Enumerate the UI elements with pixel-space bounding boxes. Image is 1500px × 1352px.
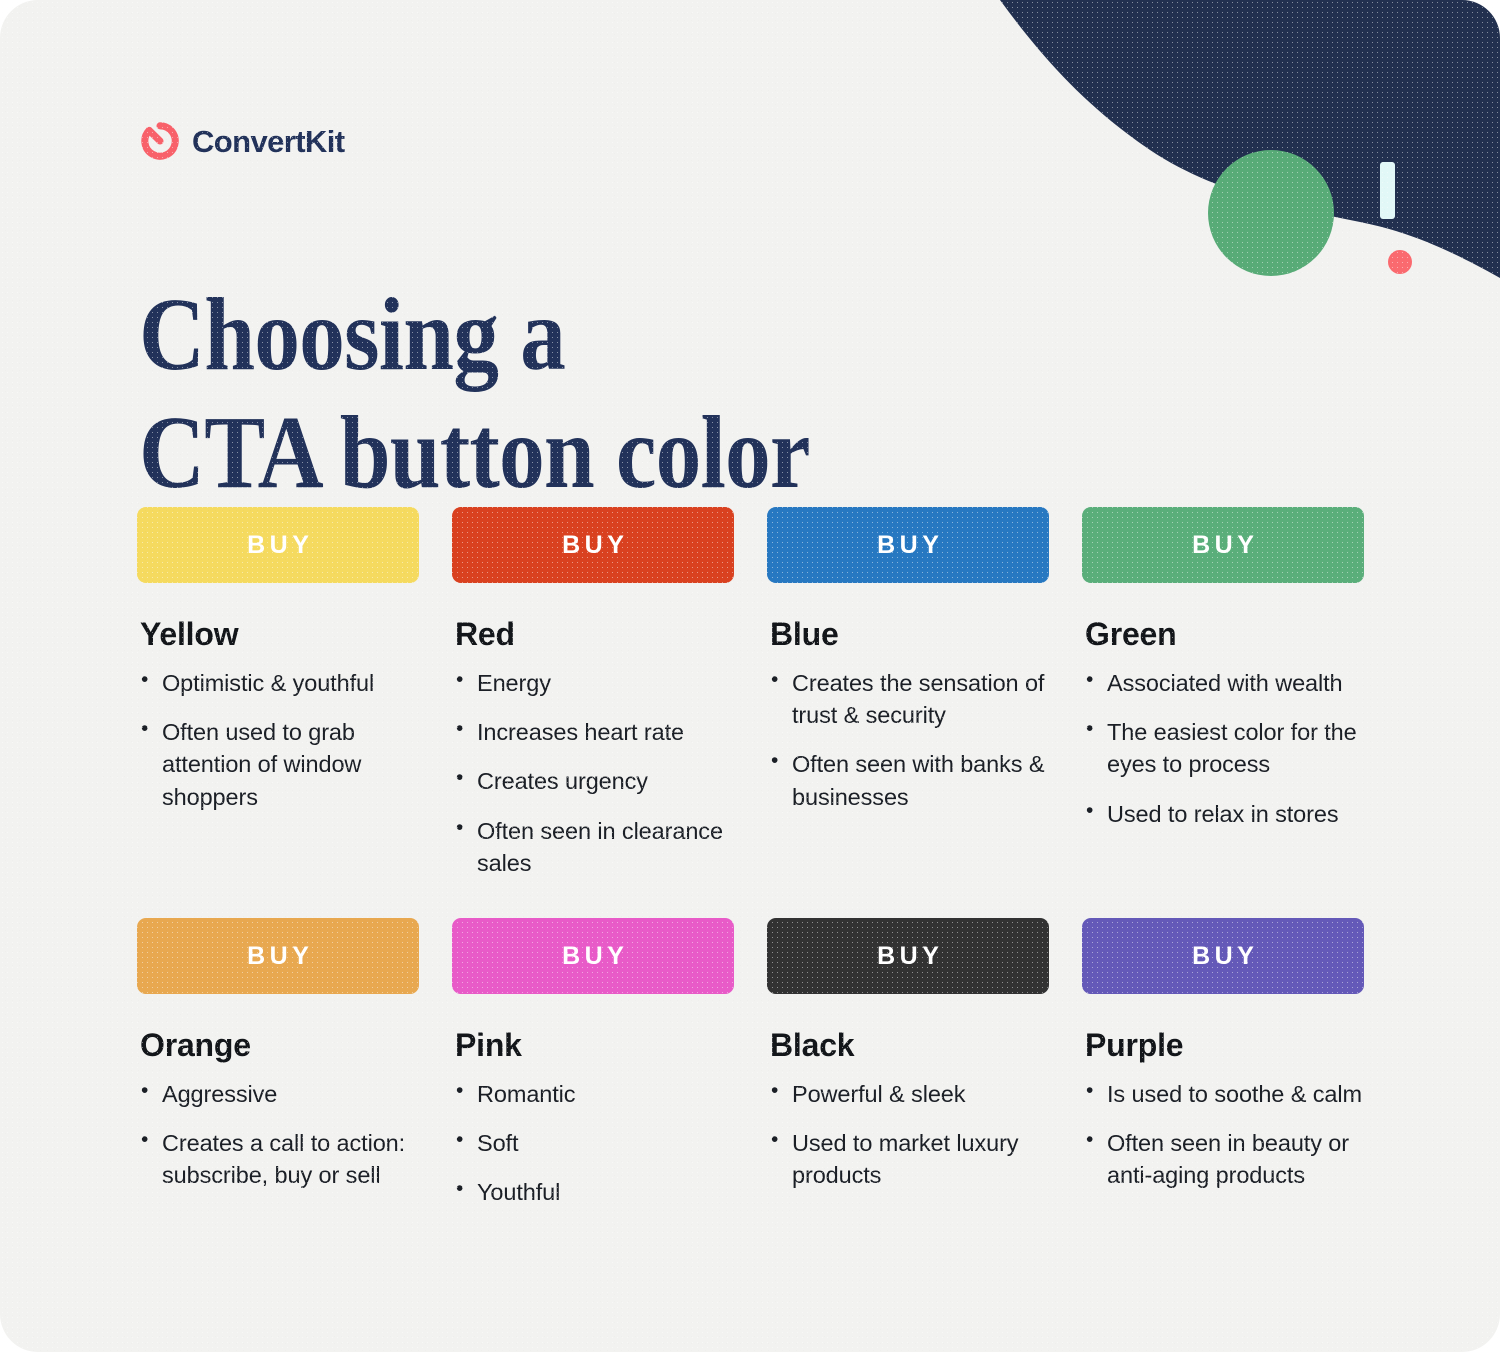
color-card-pink: BUY Pink Romantic Soft Youthful bbox=[452, 918, 734, 1226]
list-item: Soft bbox=[452, 1127, 734, 1159]
buy-button-pink[interactable]: BUY bbox=[452, 918, 734, 994]
green-circle-decoration bbox=[1208, 150, 1334, 276]
bullet-list-pink: Romantic Soft Youthful bbox=[452, 1078, 734, 1209]
bullet-list-blue: Creates the sensation of trust & securit… bbox=[767, 667, 1049, 813]
color-name-orange: Orange bbox=[140, 1027, 419, 1064]
bullet-list-orange: Aggressive Creates a call to action: sub… bbox=[137, 1078, 419, 1192]
list-item: Increases heart rate bbox=[452, 716, 734, 748]
color-cards-grid-row-1: BUY Yellow Optimistic & youthful Often u… bbox=[137, 507, 1365, 896]
buy-button-yellow[interactable]: BUY bbox=[137, 507, 419, 583]
buy-button-black[interactable]: BUY bbox=[767, 918, 1049, 994]
list-item: Romantic bbox=[452, 1078, 734, 1110]
color-card-orange: BUY Orange Aggressive Creates a call to … bbox=[137, 918, 419, 1226]
list-item: Creates urgency bbox=[452, 765, 734, 797]
color-name-purple: Purple bbox=[1085, 1027, 1364, 1064]
infographic-page: ConvertKit Choosing a CTA button color B… bbox=[0, 0, 1500, 1352]
convertkit-circle-logo bbox=[141, 122, 179, 160]
list-item: The easiest color for the eyes to proces… bbox=[1082, 716, 1364, 780]
color-card-red: BUY Red Energy Increases heart rate Crea… bbox=[452, 507, 734, 896]
brand-logo: ConvertKit bbox=[141, 122, 344, 160]
cyan-bar-decoration bbox=[1380, 162, 1395, 219]
brand-name: ConvertKit bbox=[192, 126, 344, 157]
list-item: Powerful & sleek bbox=[767, 1078, 1049, 1110]
list-item: Associated with wealth bbox=[1082, 667, 1364, 699]
list-item: Aggressive bbox=[137, 1078, 419, 1110]
bullet-list-purple: Is used to soothe & calm Often seen in b… bbox=[1082, 1078, 1364, 1192]
color-name-black: Black bbox=[770, 1027, 1049, 1064]
buy-button-purple[interactable]: BUY bbox=[1082, 918, 1364, 994]
list-item: Youthful bbox=[452, 1176, 734, 1208]
color-name-pink: Pink bbox=[455, 1027, 734, 1064]
bullet-list-black: Powerful & sleek Used to market luxury p… bbox=[767, 1078, 1049, 1192]
list-item: Often seen with banks & businesses bbox=[767, 748, 1049, 812]
color-cards-grid-row-2: BUY Orange Aggressive Creates a call to … bbox=[137, 918, 1365, 1226]
page-title: Choosing a CTA button color bbox=[139, 276, 931, 513]
color-name-yellow: Yellow bbox=[140, 616, 419, 653]
list-item: Used to relax in stores bbox=[1082, 798, 1364, 830]
list-item: Optimistic & youthful bbox=[137, 667, 419, 699]
list-item: Creates a call to action: subscribe, buy… bbox=[137, 1127, 419, 1191]
buy-button-blue[interactable]: BUY bbox=[767, 507, 1049, 583]
list-item: Used to market luxury products bbox=[767, 1127, 1049, 1191]
list-item: Is used to soothe & calm bbox=[1082, 1078, 1364, 1110]
color-name-blue: Blue bbox=[770, 616, 1049, 653]
list-item: Often seen in clearance sales bbox=[452, 815, 734, 879]
color-card-blue: BUY Blue Creates the sensation of trust … bbox=[767, 507, 1049, 896]
color-card-yellow: BUY Yellow Optimistic & youthful Often u… bbox=[137, 507, 419, 896]
bullet-list-red: Energy Increases heart rate Creates urge… bbox=[452, 667, 734, 879]
color-card-green: BUY Green Associated with wealth The eas… bbox=[1082, 507, 1364, 896]
buy-button-red[interactable]: BUY bbox=[452, 507, 734, 583]
list-item: Creates the sensation of trust & securit… bbox=[767, 667, 1049, 731]
bullet-list-yellow: Optimistic & youthful Often used to grab… bbox=[137, 667, 419, 813]
buy-button-orange[interactable]: BUY bbox=[137, 918, 419, 994]
color-name-green: Green bbox=[1085, 616, 1364, 653]
bullet-list-green: Associated with wealth The easiest color… bbox=[1082, 667, 1364, 830]
list-item: Often used to grab attention of window s… bbox=[137, 716, 419, 813]
color-card-purple: BUY Purple Is used to soothe & calm Ofte… bbox=[1082, 918, 1364, 1226]
color-name-red: Red bbox=[455, 616, 734, 653]
list-item: Often seen in beauty or anti-aging produ… bbox=[1082, 1127, 1364, 1191]
buy-button-green[interactable]: BUY bbox=[1082, 507, 1364, 583]
list-item: Energy bbox=[452, 667, 734, 699]
color-card-black: BUY Black Powerful & sleek Used to marke… bbox=[767, 918, 1049, 1226]
coral-dot-decoration bbox=[1388, 250, 1412, 274]
